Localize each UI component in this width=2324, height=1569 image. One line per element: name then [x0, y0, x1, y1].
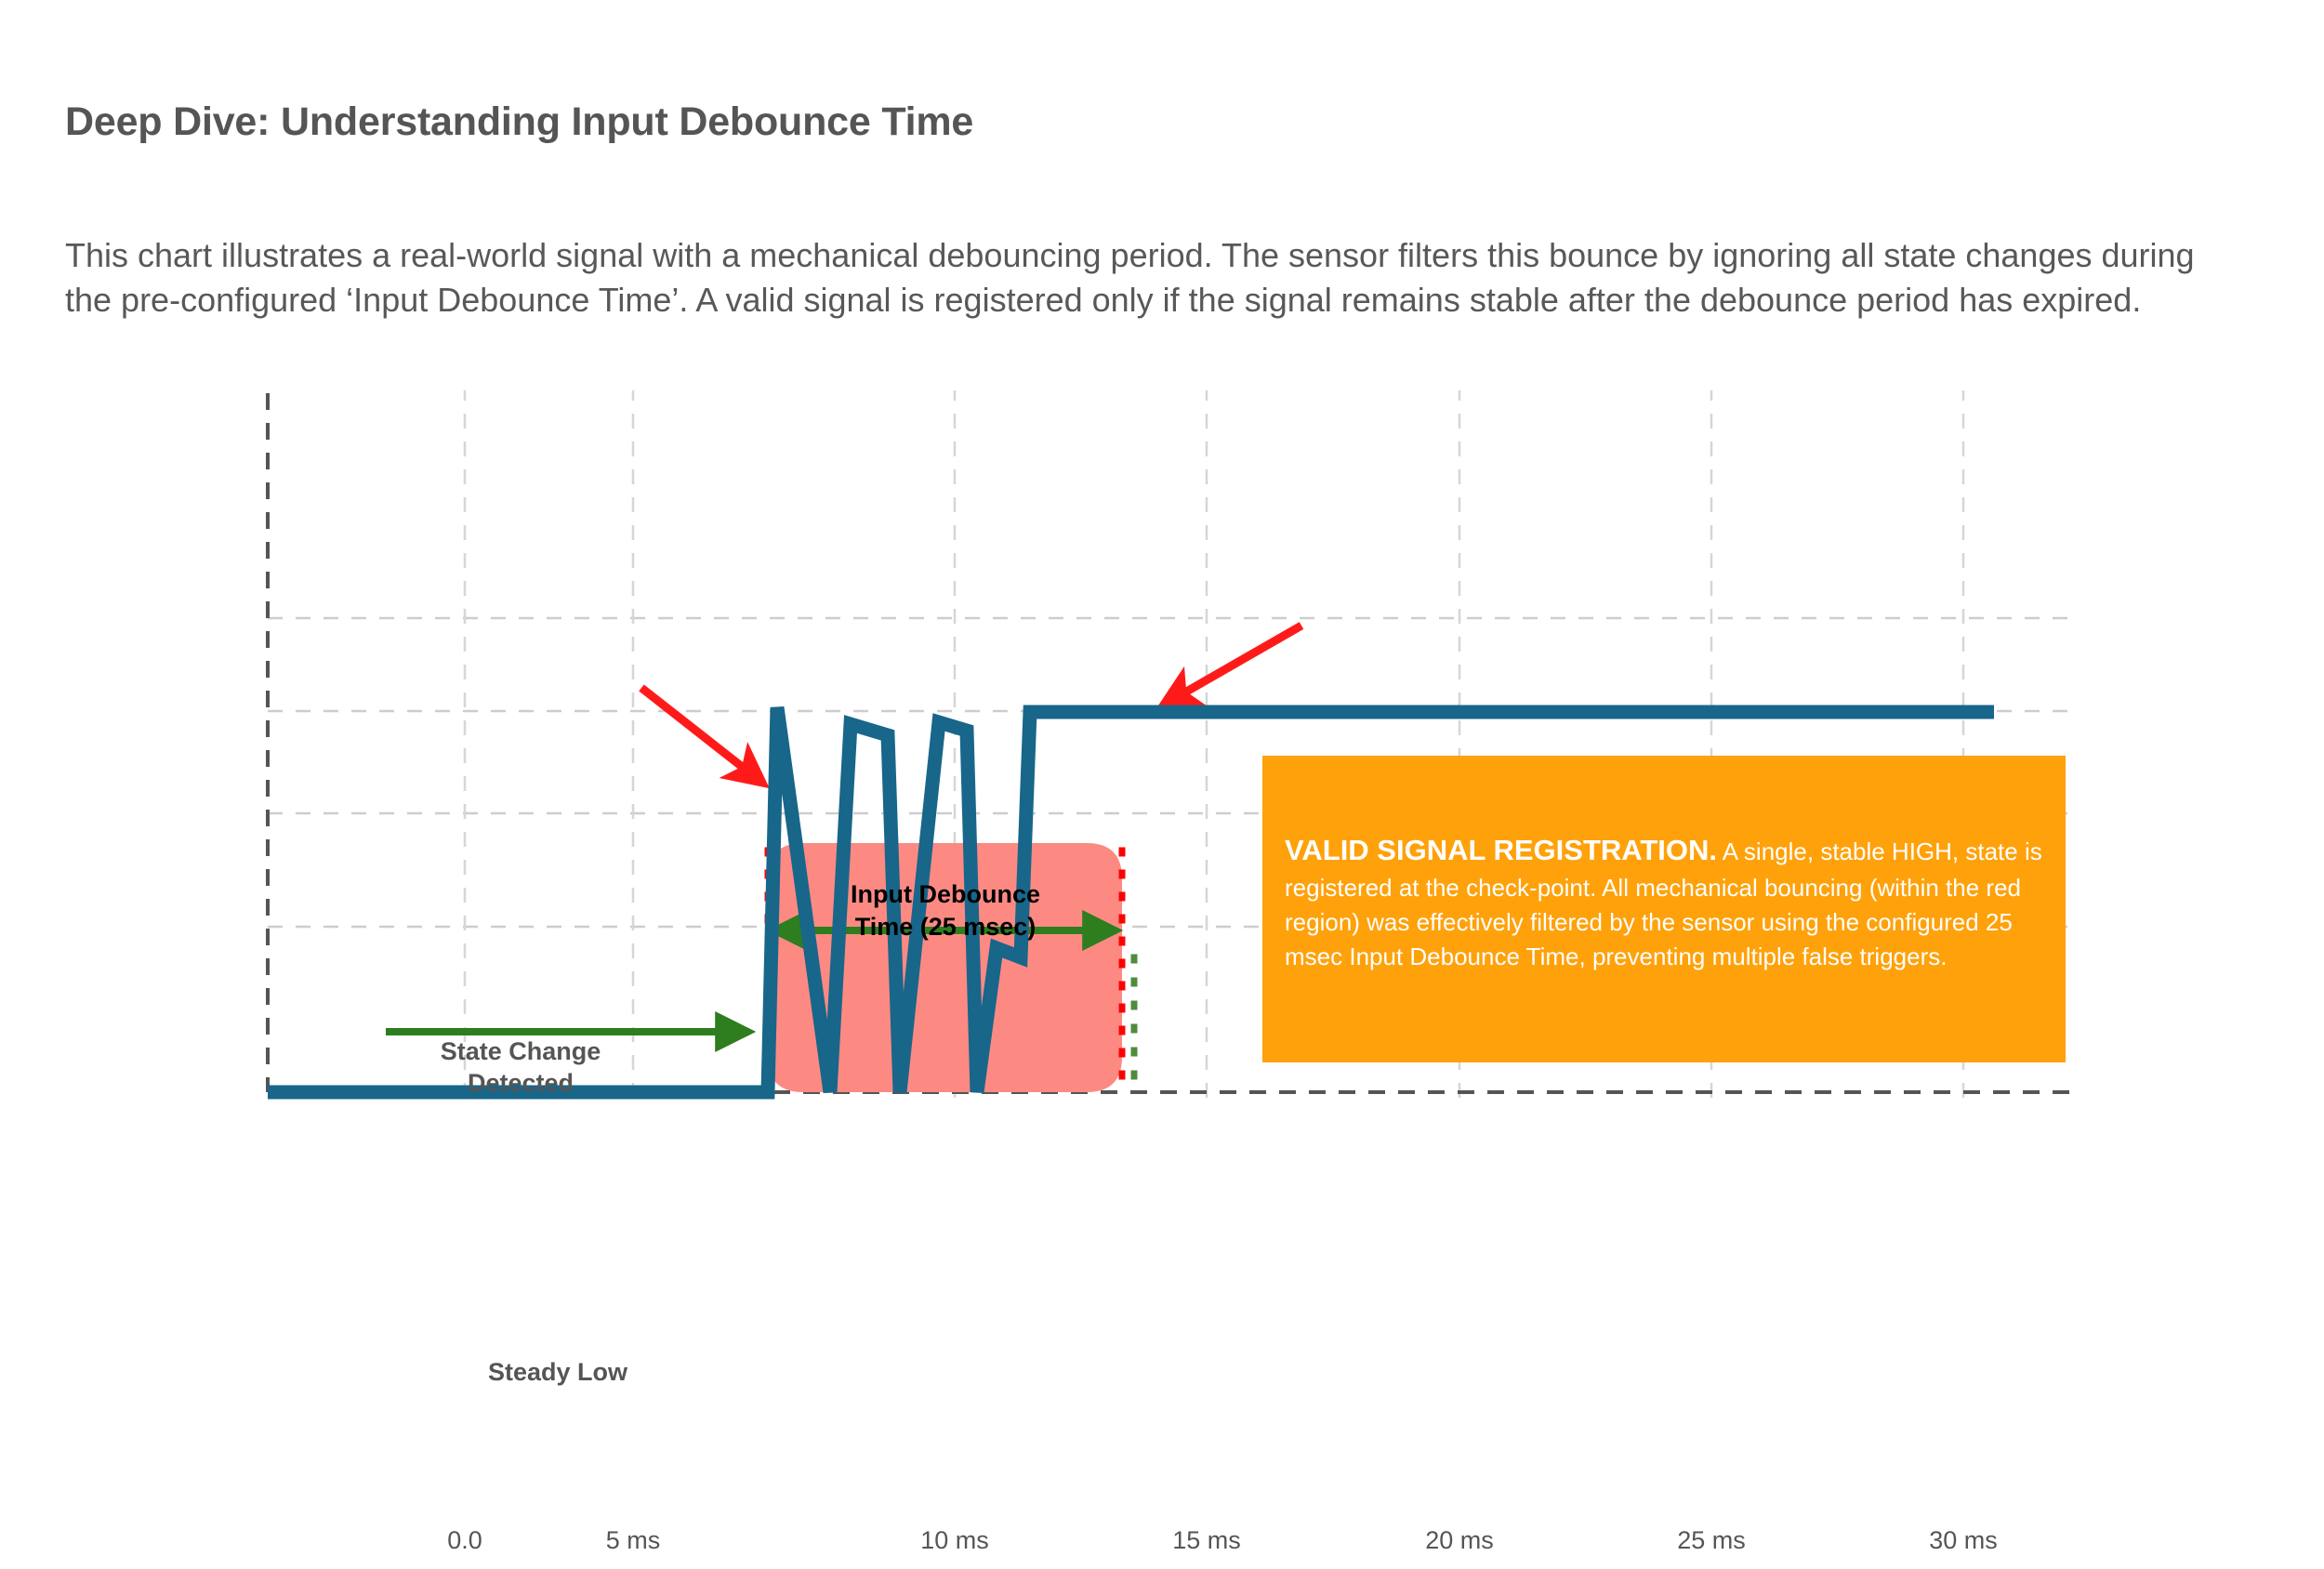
intro-paragraph: This chart illustrates a real-world sign… [65, 233, 2240, 322]
x-tick-2: 10 ms [920, 1526, 989, 1555]
state-change-detected-arrow [641, 688, 762, 783]
x-tick-3: 15 ms [1172, 1526, 1241, 1555]
state-change-detected-label: State Change Detected [400, 1036, 641, 1100]
slide-root: Deep Dive: Understanding Input Debounce … [0, 0, 2324, 1225]
x-tick-6: 30 ms [1929, 1526, 1998, 1555]
valid-signal-callout-text: VALID SIGNAL REGISTRATION. A single, sta… [1285, 830, 2051, 974]
x-tick-4: 20 ms [1425, 1526, 1494, 1555]
debounce-region-label: Input Debounce Time (25 msec) [768, 878, 1123, 943]
x-tick-5: 25 ms [1677, 1526, 1746, 1555]
state-change-check-arrow [1164, 626, 1301, 705]
page-title: Deep Dive: Understanding Input Debounce … [65, 99, 973, 145]
x-axis-tick-labels: 0.0 5 ms 10 ms 15 ms 20 ms 25 ms 30 ms [0, 1526, 2324, 1569]
x-tick-0: 0.0 [447, 1526, 482, 1555]
x-tick-1: 5 ms [606, 1526, 661, 1555]
steady-low-label: Steady Low [465, 1357, 651, 1389]
callout-lead-text: VALID SIGNAL REGISTRATION. [1285, 834, 1717, 866]
